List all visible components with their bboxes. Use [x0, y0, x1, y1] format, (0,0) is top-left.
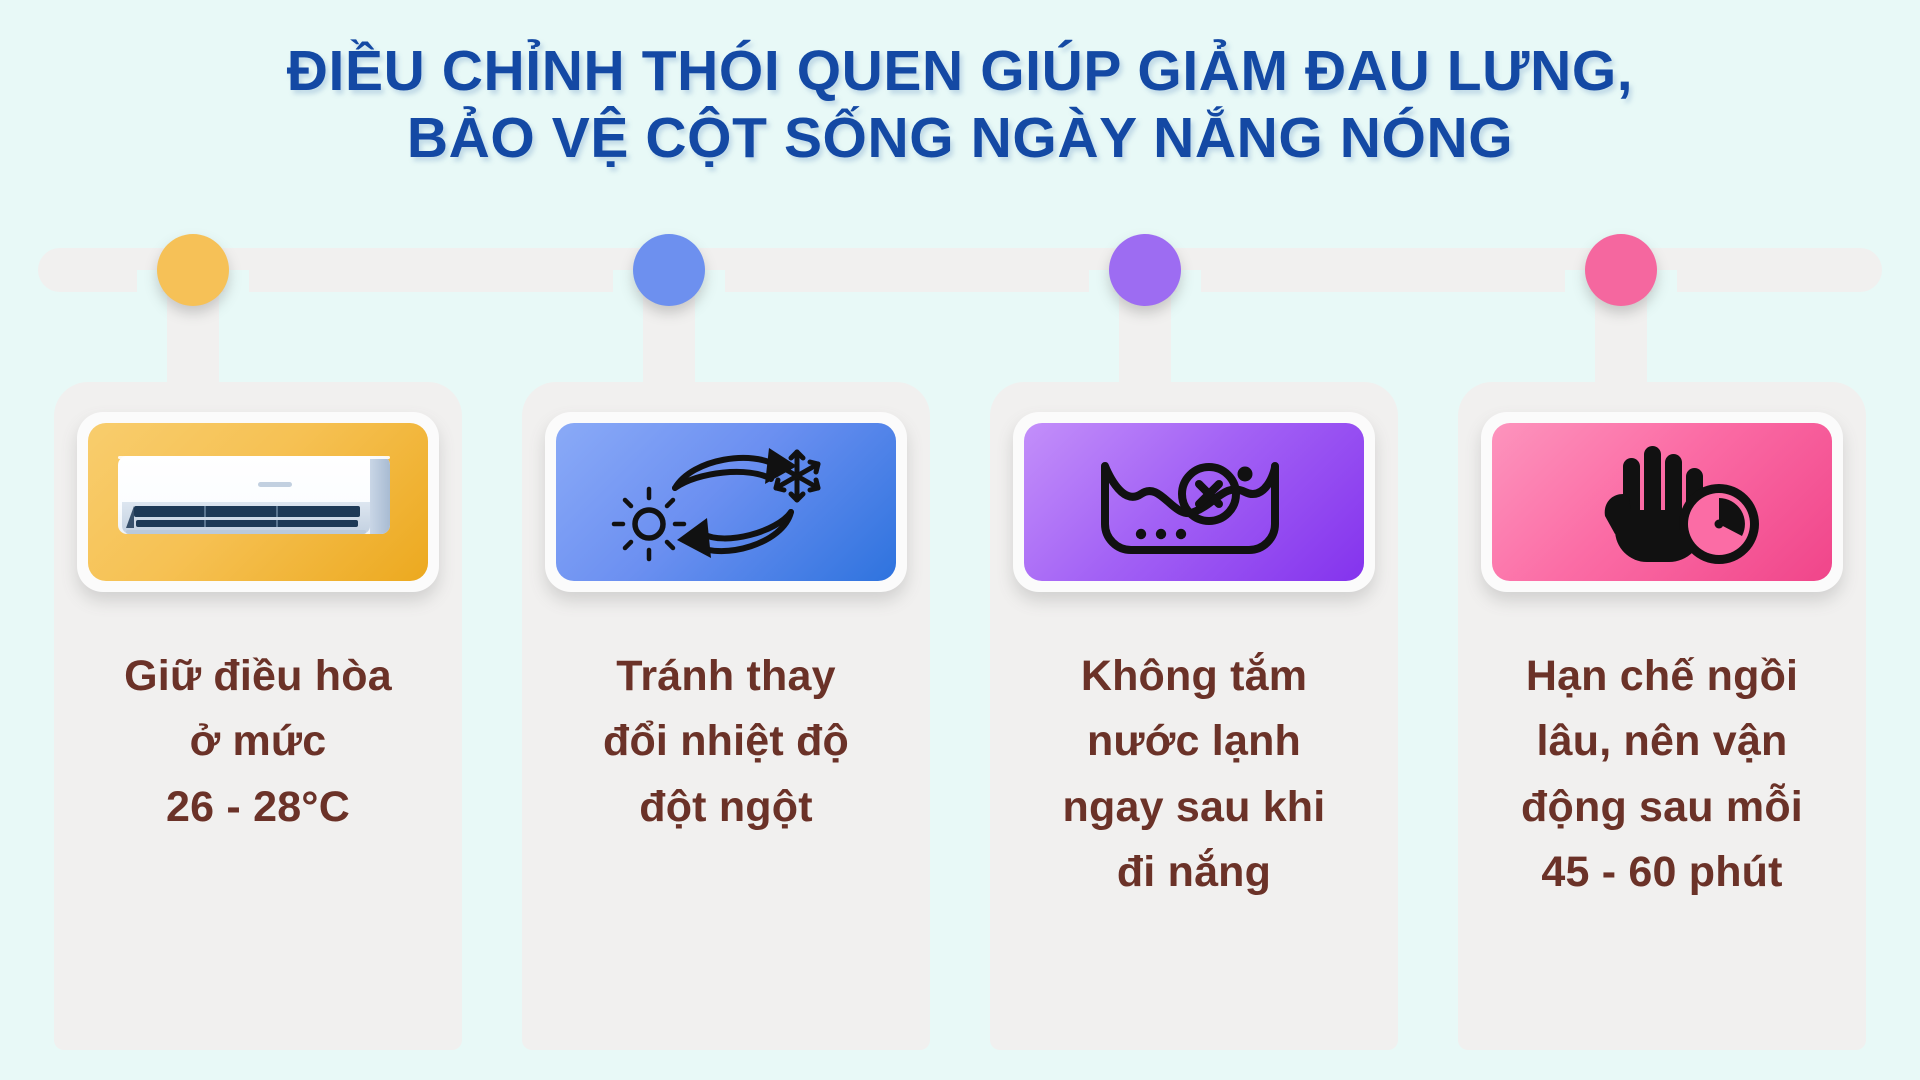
icon-frame-2: [545, 412, 907, 592]
icon-tile-3: [1024, 423, 1364, 581]
icon-tile-4: [1492, 423, 1832, 581]
card-3-line-1: Không tắm: [1063, 644, 1326, 709]
card-2-text: Tránh thay đổi nhiệt độ đột ngột: [603, 644, 849, 840]
timeline: [0, 238, 1920, 358]
step-dot-2[interactable]: [633, 234, 705, 306]
card-1-line-2: ở mức: [124, 709, 392, 774]
cards-row: Giữ điều hòa ở mức 26 - 28°C: [0, 382, 1920, 1062]
card-4-line-2: lâu, nên vận: [1521, 709, 1803, 774]
card-4-text: Hạn chế ngồi lâu, nên vận động sau mỗi 4…: [1521, 644, 1803, 905]
air-conditioner-icon: [108, 438, 408, 566]
card-3-text: Không tắm nước lạnh ngay sau khi đi nắng: [1063, 644, 1326, 905]
clock-icon: [1679, 484, 1759, 564]
limit-sitting-time-icon: [1537, 432, 1787, 572]
card-4[interactable]: Hạn chế ngồi lâu, nên vận động sau mỗi 4…: [1458, 382, 1866, 1050]
step-dot-4[interactable]: [1585, 234, 1657, 306]
icon-frame-4: [1481, 412, 1843, 592]
card-3[interactable]: Không tắm nước lạnh ngay sau khi đi nắng: [990, 382, 1398, 1050]
title-line-2: BẢO VỆ CỘT SỐNG NGÀY NẮNG NÓNG: [0, 105, 1920, 172]
no-cold-shower-icon: [1069, 432, 1319, 572]
card-4-line-1: Hạn chế ngồi: [1521, 644, 1803, 709]
step-dot-1[interactable]: [157, 234, 229, 306]
title-line-1: ĐIỀU CHỈNH THÓI QUEN GIÚP GIẢM ĐAU LƯNG,: [0, 38, 1920, 105]
card-3-line-3: ngay sau khi: [1063, 775, 1326, 840]
card-4-line-4: 45 - 60 phút: [1521, 840, 1803, 905]
card-2-line-1: Tránh thay: [603, 644, 849, 709]
card-1-line-1: Giữ điều hòa: [124, 644, 392, 709]
icon-frame-3: [1013, 412, 1375, 592]
card-3-line-4: đi nắng: [1063, 840, 1326, 905]
card-1[interactable]: Giữ điều hòa ở mức 26 - 28°C: [54, 382, 462, 1050]
card-1-line-3: 26 - 28°C: [124, 775, 392, 840]
page-title: ĐIỀU CHỈNH THÓI QUEN GIÚP GIẢM ĐAU LƯNG,…: [0, 38, 1920, 173]
card-1-text: Giữ điều hòa ở mức 26 - 28°C: [124, 644, 392, 840]
icon-tile-2: [556, 423, 896, 581]
icon-frame-1: [77, 412, 439, 592]
temperature-change-icon: [601, 432, 851, 572]
step-dot-3[interactable]: [1109, 234, 1181, 306]
card-2[interactable]: Tránh thay đổi nhiệt độ đột ngột: [522, 382, 930, 1050]
card-2-line-2: đổi nhiệt độ: [603, 709, 849, 774]
card-4-line-3: động sau mỗi: [1521, 775, 1803, 840]
card-3-line-2: nước lạnh: [1063, 709, 1326, 774]
icon-tile-1: [88, 423, 428, 581]
card-2-line-3: đột ngột: [603, 775, 849, 840]
